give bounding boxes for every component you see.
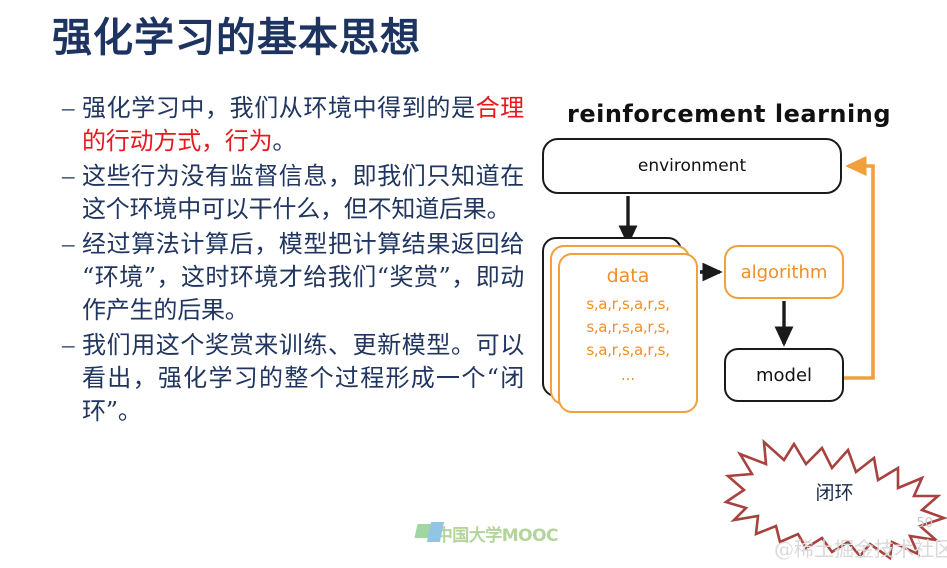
page-number: 50 bbox=[916, 516, 933, 531]
list-item: – 这些行为没有监督信息，即我们只知道在这个环境中可以干什么，但不知道后果。 bbox=[62, 160, 524, 226]
page-title: 强化学习的基本思想 bbox=[52, 14, 421, 62]
diagram-node-algorithm: algorithm bbox=[724, 245, 844, 299]
bullet-segment-normal: 强化学习中，我们从环境中得到的是 bbox=[82, 94, 476, 122]
bullet-list: – 强化学习中，我们从环境中得到的是合理的行动方式，行为。 – 这些行为没有监督… bbox=[62, 92, 524, 430]
edge-model-to-environment-feedback bbox=[844, 166, 873, 378]
diagram-node-data: data s,a,r,s,a,r,s, s,a,r,s,a,r,s, s,a,r… bbox=[558, 253, 698, 413]
data-line: s,a,r,s,a,r,s, bbox=[586, 339, 669, 362]
mooc-logo: 中国大学MOOC bbox=[416, 519, 558, 547]
mooc-flag-icon bbox=[416, 522, 431, 544]
bullet-dash: – bbox=[62, 329, 82, 362]
bullet-segment-normal-tail: 。 bbox=[272, 127, 296, 155]
watermark: @稀土掘金技术社区 bbox=[774, 533, 947, 562]
bullet-text: 经过算法计算后，模型把计算结果返回给“环境”，这时环境才给我们“奖赏”，即动作产… bbox=[82, 228, 524, 327]
data-line: s,a,r,s,a,r,s, bbox=[586, 293, 669, 316]
diagram-node-environment: environment bbox=[542, 138, 842, 194]
bullet-text: 我们用这个奖赏来训练、更新模型。可以看出，强化学习的整个过程形成一个“闭环”。 bbox=[82, 329, 524, 428]
bullet-dash: – bbox=[62, 92, 82, 125]
bullet-text: 强化学习中，我们从环境中得到的是合理的行动方式，行为。 bbox=[82, 92, 524, 158]
data-line: s,a,r,s,a,r,s, bbox=[586, 316, 669, 339]
data-title: data bbox=[607, 265, 650, 287]
list-item: – 经过算法计算后，模型把计算结果返回给“环境”，这时环境才给我们“奖赏”，即动… bbox=[62, 228, 524, 327]
bullet-dash: – bbox=[62, 160, 82, 193]
list-item: – 我们用这个奖赏来训练、更新模型。可以看出，强化学习的整个过程形成一个“闭环”… bbox=[62, 329, 524, 428]
bullet-text: 这些行为没有监督信息，即我们只知道在这个环境中可以干什么，但不知道后果。 bbox=[82, 160, 524, 226]
data-ellipsis: ... bbox=[621, 366, 635, 384]
mooc-logo-text: 中国大学MOOC bbox=[436, 521, 558, 546]
list-item: – 强化学习中，我们从环境中得到的是合理的行动方式，行为。 bbox=[62, 92, 524, 158]
diagram-node-model: model bbox=[724, 348, 844, 402]
slide-canvas: 强化学习的基本思想 – 强化学习中，我们从环境中得到的是合理的行动方式，行为。 … bbox=[0, 0, 947, 568]
bullet-dash: – bbox=[62, 228, 82, 261]
reinforcement-learning-diagram: reinforcement learning environment bbox=[528, 100, 928, 420]
starburst-label: 闭环 bbox=[722, 478, 947, 505]
